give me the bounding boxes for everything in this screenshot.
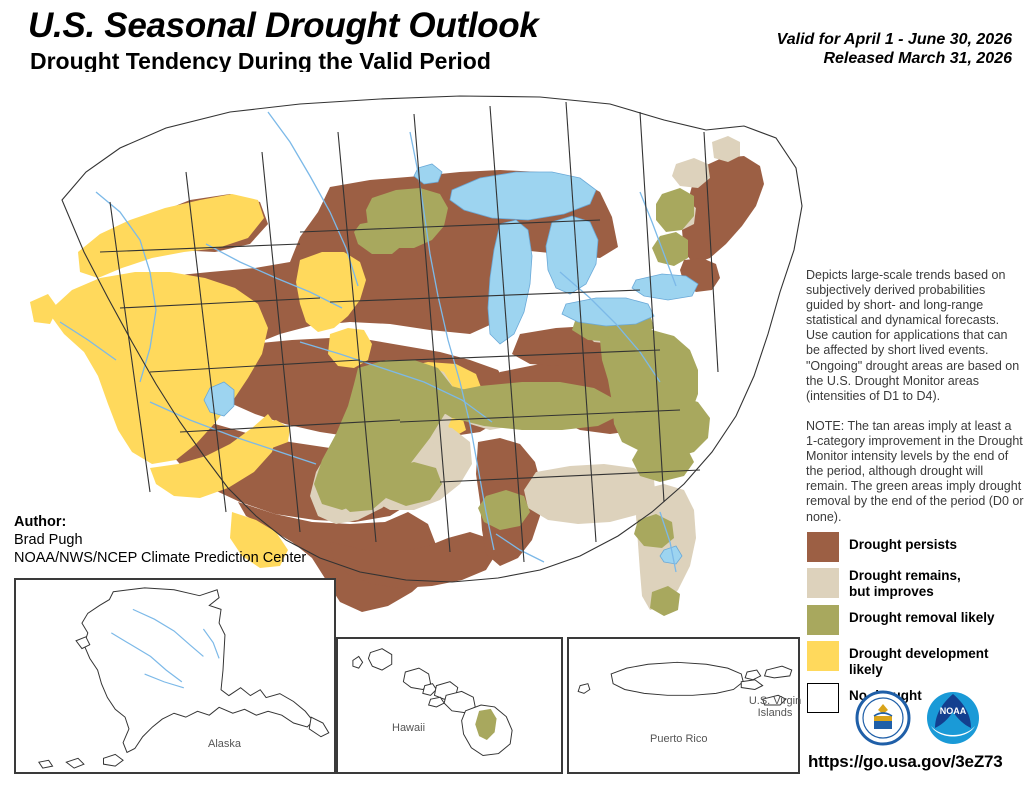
legend-item-drought-persists: Drought persists xyxy=(807,532,1023,562)
legend-swatch-drought-persists xyxy=(807,532,839,562)
author-heading: Author: xyxy=(14,513,306,531)
noaa-logo-text: NOAA xyxy=(940,706,967,716)
legend-item-drought-development-likely: Drought development likely xyxy=(807,641,1023,677)
alaska-label: Alaska xyxy=(208,738,241,750)
author-name: Brad Pugh xyxy=(14,531,306,549)
alaska-inset-map xyxy=(14,578,336,774)
source-url[interactable]: https://go.usa.gov/3eZ73 xyxy=(808,752,1003,772)
validity-block: Valid for April 1 - June 30, 2026 Releas… xyxy=(777,30,1012,68)
legend-swatch-no-drought xyxy=(807,683,839,713)
legend-label-drought-development-likely: Drought development likely xyxy=(849,641,1023,677)
page-title: U.S. Seasonal Drought Outlook xyxy=(28,6,539,46)
valid-for-text: Valid for April 1 - June 30, 2026 xyxy=(777,30,1012,49)
agency-logos: NOAA xyxy=(855,690,985,746)
legend-swatch-drought-development-likely xyxy=(807,641,839,671)
legend-label-drought-persists: Drought persists xyxy=(849,532,957,553)
legend-swatch-drought-remains-improves xyxy=(807,568,839,598)
author-affiliation: NOAA/NWS/NCEP Climate Prediction Center xyxy=(14,549,306,567)
legend-label-drought-removal-likely: Drought removal likely xyxy=(849,605,995,626)
note-paragraph: NOTE: The tan areas imply at least a 1-c… xyxy=(806,419,1024,525)
usvi-label: U.S. Virgin Islands xyxy=(745,695,805,719)
released-text: Released March 31, 2026 xyxy=(777,49,1012,68)
hawaii-label: Hawaii xyxy=(392,722,425,734)
legend-label-line2: but improves xyxy=(849,584,961,600)
department-of-commerce-seal xyxy=(857,692,909,744)
page-subtitle: Drought Tendency During the Valid Period xyxy=(30,48,491,75)
legend-label-drought-remains-improves: Drought remains, but improves xyxy=(849,568,961,599)
author-block: Author: Brad Pugh NOAA/NWS/NCEP Climate … xyxy=(14,513,306,567)
legend-swatch-drought-removal-likely xyxy=(807,605,839,635)
legend-item-drought-removal-likely: Drought removal likely xyxy=(807,605,1023,635)
legend-item-drought-remains-improves: Drought remains, but improves xyxy=(807,568,1023,599)
hawaii-inset-map xyxy=(336,637,563,774)
noaa-logo: NOAA xyxy=(927,692,979,744)
description-paragraph: Depicts large-scale trends based on subj… xyxy=(806,268,1024,404)
legend-label-line1: Drought remains, xyxy=(849,568,961,584)
puerto-rico-label: Puerto Rico xyxy=(650,733,707,745)
